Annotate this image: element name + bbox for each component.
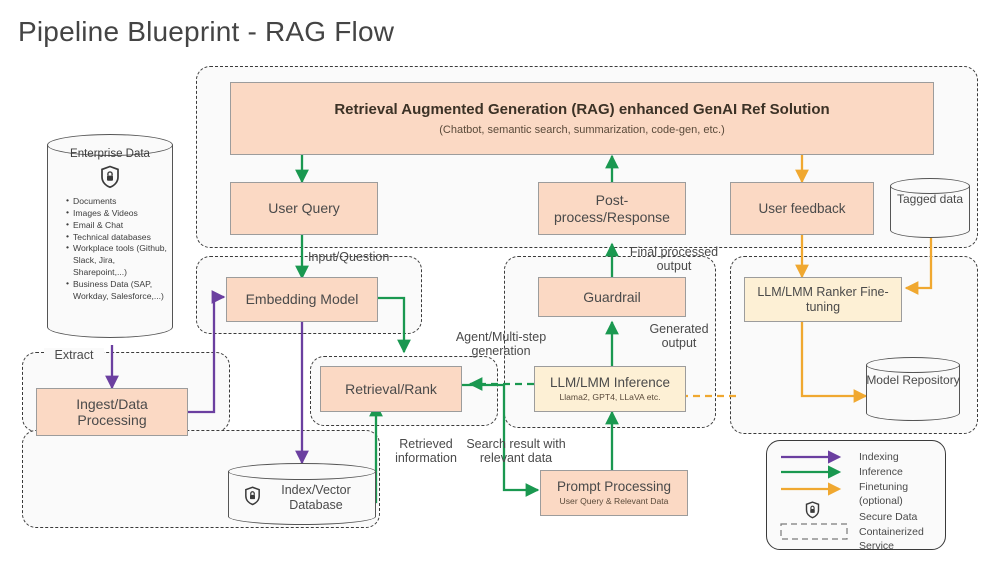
diagram-canvas: Pipeline Blueprint - RAG Flow: [0, 0, 1000, 563]
list-item: Business Data (SAP, Workday, Salesforce,…: [66, 279, 169, 303]
flow-label-input-question: Input/Question: [308, 250, 408, 264]
user-feedback-box[interactable]: User feedback: [730, 182, 874, 235]
flow-label-extract: Extract: [44, 348, 104, 362]
prompt-processing-box[interactable]: Prompt Processing User Query & Relevant …: [540, 470, 688, 516]
enterprise-data-cylinder: Enterprise Data Documents Images & Video…: [47, 134, 173, 338]
user-feedback-label: User feedback: [758, 201, 845, 217]
list-item: Documents: [66, 196, 169, 208]
list-item: Technical databases: [66, 232, 169, 244]
rag-solution-title: Retrieval Augmented Generation (RAG) enh…: [334, 101, 829, 118]
ranker-finetuning-label: LLM/LMM Ranker Fine-tuning: [751, 285, 895, 314]
user-query-label: User Query: [268, 200, 340, 216]
guardrail-label: Guardrail: [583, 289, 641, 305]
flow-label-generated-output: Generated output: [638, 322, 720, 351]
enterprise-data-title: Enterprise Data: [47, 148, 173, 160]
embedding-model-box[interactable]: Embedding Model: [226, 277, 378, 322]
llm-inference-sublabel: Llama2, GPT4, LLaVA etc.: [559, 393, 660, 403]
secure-data-shield-lock-icon: [100, 165, 120, 189]
tagged-data-label: Tagged data: [890, 192, 970, 206]
list-item: Workplace tools (Github, Slack, Jira, Sh…: [66, 243, 169, 279]
post-process-response-label: Post-process/Response: [547, 192, 677, 224]
model-repository-cylinder: Model Repository: [866, 357, 960, 421]
legend-label-containerized-service: Containerized Service: [859, 526, 939, 554]
enterprise-data-list: Documents Images & Videos Email & Chat T…: [55, 196, 169, 303]
legend-label-secure-data: Secure Data: [859, 511, 917, 525]
model-repository-label: Model Repository: [866, 373, 960, 387]
ingest-data-processing-label: Ingest/Data Processing: [43, 396, 181, 428]
flow-label-final-processed-output: Final processed output: [618, 245, 730, 274]
legend-label-indexing: Indexing: [859, 451, 899, 465]
page-title: Pipeline Blueprint - RAG Flow: [18, 16, 394, 48]
rag-solution-box[interactable]: Retrieval Augmented Generation (RAG) enh…: [230, 82, 934, 155]
cylinder-top: [228, 463, 376, 480]
prompt-processing-label: Prompt Processing: [557, 479, 671, 495]
list-item: Images & Videos: [66, 208, 169, 220]
llm-inference-box[interactable]: LLM/LMM Inference Llama2, GPT4, LLaVA et…: [534, 366, 686, 412]
flow-label-search-result: Search result with relevant data: [452, 437, 580, 466]
flow-label-agent-multistep: Agent/Multi-step generation: [440, 330, 562, 359]
shield-lock-icon: [805, 501, 820, 519]
llm-inference-label: LLM/LMM Inference: [550, 375, 670, 391]
ranker-finetuning-box[interactable]: LLM/LMM Ranker Fine-tuning: [744, 277, 902, 322]
user-query-box[interactable]: User Query: [230, 182, 378, 235]
ingest-data-processing-box[interactable]: Ingest/Data Processing: [36, 388, 188, 436]
retrieval-rank-box[interactable]: Retrieval/Rank: [320, 366, 462, 412]
guardrail-box[interactable]: Guardrail: [538, 277, 686, 317]
rag-solution-subtitle: (Chatbot, semantic search, summarization…: [439, 124, 725, 137]
cylinder-top: [866, 357, 960, 373]
list-item: Email & Chat: [66, 220, 169, 232]
post-process-response-box[interactable]: Post-process/Response: [538, 182, 686, 235]
legend-label-inference: Inference: [859, 466, 903, 480]
index-vector-db-label: Index/Vector Database: [256, 483, 376, 513]
tagged-data-cylinder: Tagged data: [890, 178, 970, 238]
index-vector-db-cylinder: Index/Vector Database: [228, 463, 376, 525]
embedding-model-label: Embedding Model: [246, 291, 359, 307]
legend-panel: Indexing Inference Finetuning (optional)…: [766, 440, 946, 550]
legend-label-finetuning: Finetuning (optional): [859, 481, 935, 509]
prompt-processing-sublabel: User Query & Relevant Data: [560, 497, 669, 507]
retrieval-rank-label: Retrieval/Rank: [345, 381, 437, 397]
